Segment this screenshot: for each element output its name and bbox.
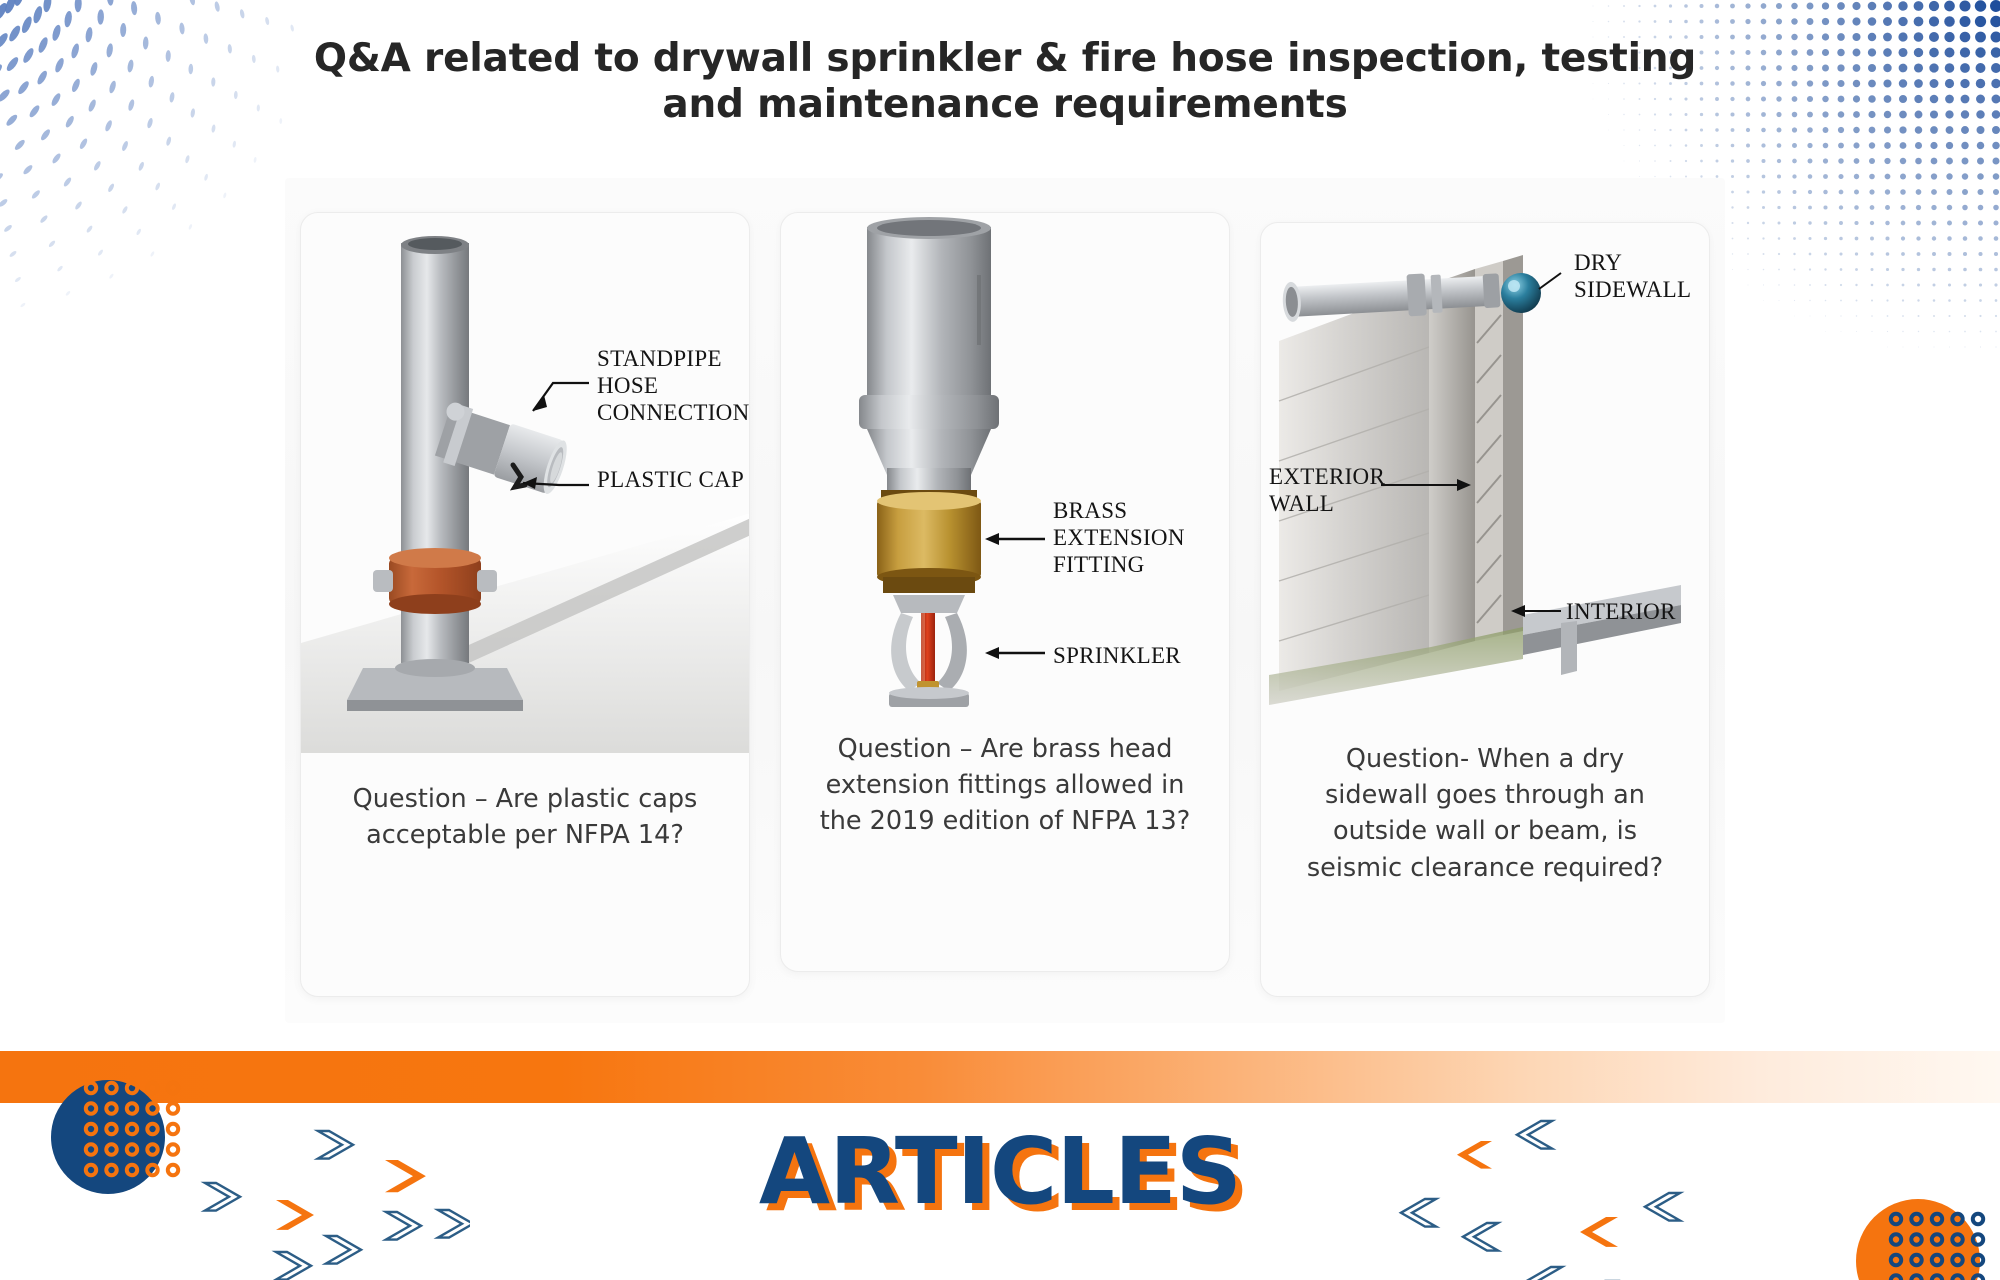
page-title-line-1: Q&A related to drywall sprinkler & fire …: [310, 36, 1700, 82]
card-standpipe[interactable]: STANDPIPE HOSE CONNECTION PLASTIC CAP Qu…: [300, 212, 750, 997]
card-list: STANDPIPE HOSE CONNECTION PLASTIC CAP Qu…: [300, 212, 1710, 1012]
orange-gradient-divider-bar: [0, 1051, 2000, 1103]
annotation-standpipe-hose-connection: STANDPIPE HOSE CONNECTION: [597, 345, 750, 426]
page-title: Q&A related to drywall sprinkler & fire …: [310, 36, 1700, 128]
card-caption: Question- When a dry sidewall goes throu…: [1261, 723, 1709, 996]
swirl-dash-pattern-decoration: [0, 0, 300, 380]
annotation-exterior-wall: EXTERIOR WALL: [1269, 463, 1385, 517]
brass-extension-fitting-sprinkler-photo: BRASS EXTENSION FITTING SPRINKLER: [781, 213, 1229, 713]
card-caption: Question – Are brass head extension fitt…: [781, 713, 1229, 971]
standpipe-hose-connection-photo: STANDPIPE HOSE CONNECTION PLASTIC CAP: [301, 213, 749, 753]
annotation-interior: INTERIOR: [1566, 598, 1676, 625]
dry-sidewall-through-exterior-wall-illustration: DRY SIDEWALL EXTERIOR WALL INTERIOR: [1261, 223, 1709, 723]
annotation-plastic-cap: PLASTIC CAP: [597, 466, 744, 493]
annotation-sprinkler: SPRINKLER: [1053, 642, 1181, 669]
card-brass-extension[interactable]: BRASS EXTENSION FITTING SPRINKLER Questi…: [780, 212, 1230, 972]
page-title-line-2: and maintenance requirements: [310, 82, 1700, 128]
annotation-dry-sidewall: DRY SIDEWALL: [1574, 249, 1691, 303]
slide-canvas: Q&A related to drywall sprinkler & fire …: [0, 0, 2000, 1280]
footer-title: ARTICLES: [0, 1118, 2000, 1225]
card-dry-sidewall[interactable]: DRY SIDEWALL EXTERIOR WALL INTERIOR Ques…: [1260, 222, 1710, 997]
card-caption: Question – Are plastic caps acceptable p…: [301, 753, 749, 996]
annotation-brass-extension-fitting: BRASS EXTENSION FITTING: [1053, 497, 1185, 578]
